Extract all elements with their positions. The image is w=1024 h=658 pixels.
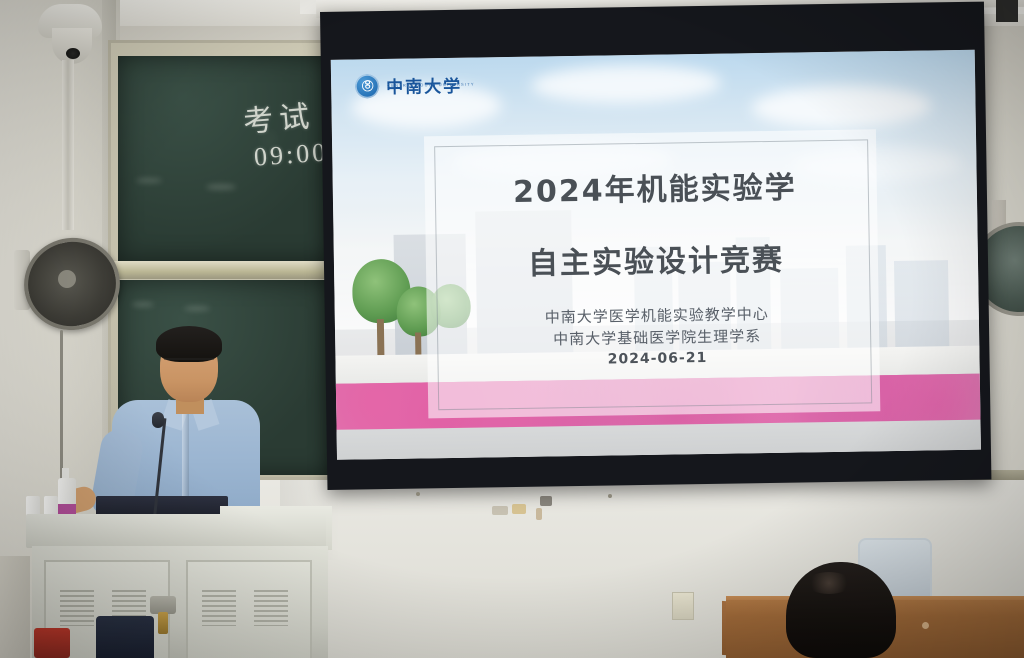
conduit-pipe xyxy=(62,60,74,230)
audience-hair-highlight xyxy=(806,572,852,594)
chalk-smudge xyxy=(184,306,210,311)
trash-bin xyxy=(96,616,154,658)
vent-icon xyxy=(254,590,288,626)
lecture-hall-photo: 考试 09:00 xyxy=(0,0,1024,658)
cloud xyxy=(751,84,932,129)
left-fan-hub xyxy=(58,270,76,288)
wall-screw xyxy=(416,492,420,496)
presenter-glasses xyxy=(164,358,214,372)
wall-mark xyxy=(492,506,508,515)
vent-icon xyxy=(60,590,94,626)
chalkboard-note-time: 09:00 xyxy=(253,137,329,172)
desk-stud xyxy=(922,622,929,629)
podium-cabinet-door-right[interactable] xyxy=(186,560,312,658)
chalkboard-note-exam: 考试 xyxy=(241,91,317,141)
podium-top-surface xyxy=(26,514,326,548)
presenter-hair xyxy=(156,326,222,362)
university-emblem-icon xyxy=(355,74,379,98)
wall-mark xyxy=(536,508,542,520)
chalk-smudge xyxy=(206,184,236,190)
projection-screen: 2024年机能实验学 自主实验设计竞赛 中南大学医学机能实验教学中心 中南大学基… xyxy=(320,2,991,490)
wall-mark xyxy=(540,496,552,506)
microphone-icon xyxy=(152,412,164,428)
baseboard xyxy=(0,556,30,658)
slide-background: 2024年机能实验学 自主实验设计竞赛 中南大学医学机能实验教学中心 中南大学基… xyxy=(331,50,981,460)
wall-screw xyxy=(608,494,612,498)
wall-cable xyxy=(60,330,63,480)
security-camera-lens-icon xyxy=(66,48,80,59)
projection-screen-end-cap xyxy=(996,0,1018,22)
vent-icon xyxy=(202,590,236,626)
cloud xyxy=(531,64,722,105)
chalkboard-chalk-rail xyxy=(112,261,340,279)
red-container xyxy=(34,628,70,658)
projected-slide: 2024年机能实验学 自主实验设计竞赛 中南大学医学机能实验教学中心 中南大学基… xyxy=(331,50,981,460)
light-switch-plate[interactable] xyxy=(672,592,694,620)
wall-mark xyxy=(512,504,526,514)
chalk-smudge xyxy=(132,302,154,307)
podium-lock-hasp xyxy=(158,612,168,634)
chalk-smudge xyxy=(136,178,162,183)
